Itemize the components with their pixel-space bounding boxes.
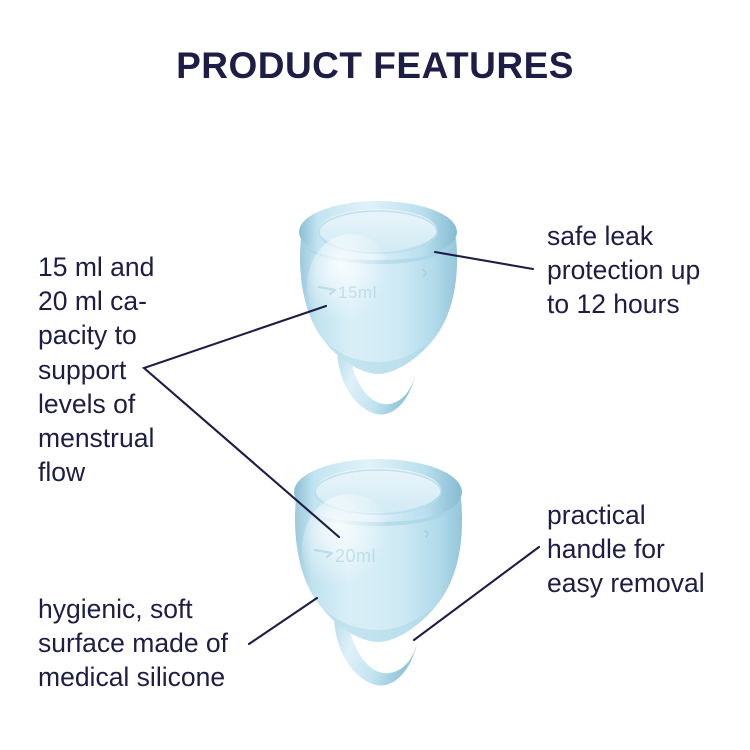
page-title: PRODUCT FEATURES <box>0 47 750 84</box>
callout-capacity-text: 15 ml and 20 ml ca- pacity to support le… <box>38 250 208 489</box>
svg-text:20ml: 20ml <box>335 546 376 566</box>
product-image-cup-20ml: 20ml <box>277 443 479 689</box>
callout-leak-protection-text: safe leak protection up to 12 hours <box>547 219 737 322</box>
product-image-cup-15ml: 15ml <box>283 186 473 418</box>
callout-hygienic-surface-text: hygienic, soft surface made of medical s… <box>38 592 278 695</box>
svg-text:15ml: 15ml <box>338 283 377 302</box>
callout-practical-handle-text: practical handle for easy removal <box>547 498 737 601</box>
infographic-canvas: PRODUCT FEATURES <box>0 0 750 750</box>
